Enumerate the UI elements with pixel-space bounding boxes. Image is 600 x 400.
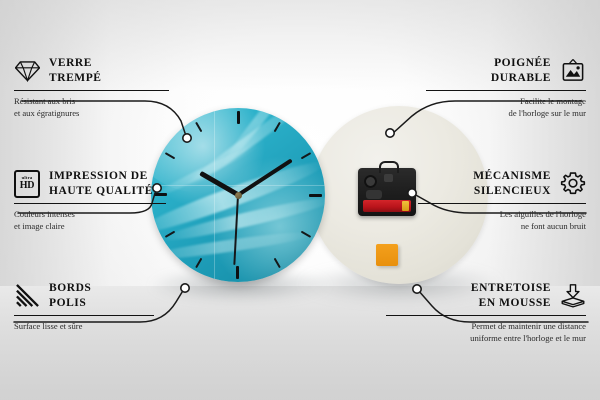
callout-description: Les aiguilles de l'horlogene font aucun … xyxy=(418,209,586,233)
diamond-icon xyxy=(14,58,40,84)
infographic-canvas: VERRETREMPÉ Résistant aux briset aux égr… xyxy=(0,0,600,400)
ultra-hd-icon-main-label: HD xyxy=(20,181,35,191)
callout-entretoise-en-mousse: ENTRETOISEEN MOUSSE Permet de maintenir … xyxy=(386,281,586,345)
callout-rule xyxy=(14,203,166,205)
callout-title: VERRETREMPÉ xyxy=(49,56,102,86)
callout-title: MÉCANISMESILENCIEUX xyxy=(473,169,551,199)
connector-dot-bords-polis xyxy=(181,284,189,292)
callout-impression-haute-qualite: ultra HD IMPRESSION DEHAUTE QUALITÉ Coul… xyxy=(14,169,166,233)
callout-description: Résistant aux briset aux égratignures xyxy=(14,96,169,120)
callout-description: Permet de maintenir une distanceuniforme… xyxy=(386,321,586,345)
callout-header: MÉCANISMESILENCIEUX xyxy=(418,169,586,199)
callout-rule xyxy=(14,315,154,317)
callout-rule xyxy=(14,90,169,92)
callout-rule xyxy=(386,315,586,317)
callout-verre-trempe: VERRETREMPÉ Résistant aux briset aux égr… xyxy=(14,56,169,120)
callout-description: Facilite le montagede l'horloge sur le m… xyxy=(426,96,586,120)
gear-icon xyxy=(560,171,586,197)
callout-header: VERRETREMPÉ xyxy=(14,56,169,86)
callout-description: Couleurs intenseset image claire xyxy=(14,209,166,233)
callout-title: IMPRESSION DEHAUTE QUALITÉ xyxy=(49,169,153,199)
callout-mecanisme-silencieux: MÉCANISMESILENCIEUX Les aiguilles de l'h… xyxy=(418,169,586,233)
callout-bords-polis: BORDSPOLIS Surface lisse et sûre xyxy=(14,281,154,333)
callout-title: ENTRETOISEEN MOUSSE xyxy=(471,281,551,311)
connector-dot-poignee xyxy=(386,129,394,137)
callout-rule xyxy=(418,203,586,205)
ultra-hd-icon: ultra HD xyxy=(14,171,40,197)
polished-edges-icon xyxy=(14,283,40,309)
callout-header: ENTRETOISEEN MOUSSE xyxy=(386,281,586,311)
callout-header: BORDSPOLIS xyxy=(14,281,154,311)
foam-spacer-icon xyxy=(560,283,586,309)
callout-poignee-durable: POIGNÉEDURABLE Facilite le montagede l'h… xyxy=(426,56,586,120)
callout-description: Surface lisse et sûre xyxy=(14,321,154,333)
picture-frame-hanger-icon xyxy=(560,58,586,84)
connector-dot-verre-trempe xyxy=(183,134,191,142)
callout-title: BORDSPOLIS xyxy=(49,281,91,311)
callout-header: ultra HD IMPRESSION DEHAUTE QUALITÉ xyxy=(14,169,166,199)
callout-title: POIGNÉEDURABLE xyxy=(491,56,551,86)
callout-header: POIGNÉEDURABLE xyxy=(426,56,586,86)
connector-dot-mecanisme xyxy=(408,189,416,197)
callout-rule xyxy=(426,90,586,92)
